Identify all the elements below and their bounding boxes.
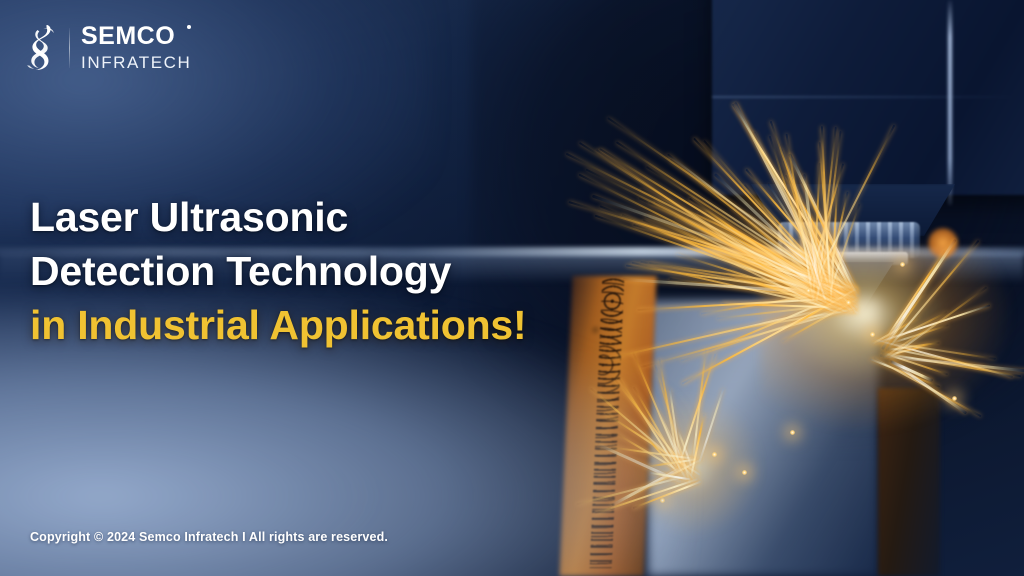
semco-flame-s-logo-icon — [24, 25, 58, 71]
headline-line-1: Laser Ultrasonic — [30, 190, 527, 244]
logo-divider — [69, 28, 70, 68]
registered-mark-icon — [187, 25, 191, 29]
headline-line-3: in Industrial Applications! — [30, 298, 527, 352]
logo-brand-name: SEMCO — [81, 24, 191, 49]
headline-line-2: Detection Technology — [30, 244, 527, 298]
logo-wordmark: SEMCO INFRATECH — [81, 24, 191, 71]
logo-brand-name-text: SEMCO — [81, 22, 175, 50]
brand-logo[interactable]: SEMCO INFRATECH — [24, 24, 191, 71]
copyright-text: Copyright © 2024 Semco Infratech I All r… — [30, 530, 388, 544]
promo-banner: SEMCO INFRATECH Laser Ultrasonic Detecti… — [0, 0, 1024, 576]
logo-tagline: INFRATECH — [81, 54, 191, 71]
footer: Copyright © 2024 Semco Infratech I All r… — [30, 530, 388, 544]
headline-block: Laser Ultrasonic Detection Technology in… — [30, 190, 527, 352]
